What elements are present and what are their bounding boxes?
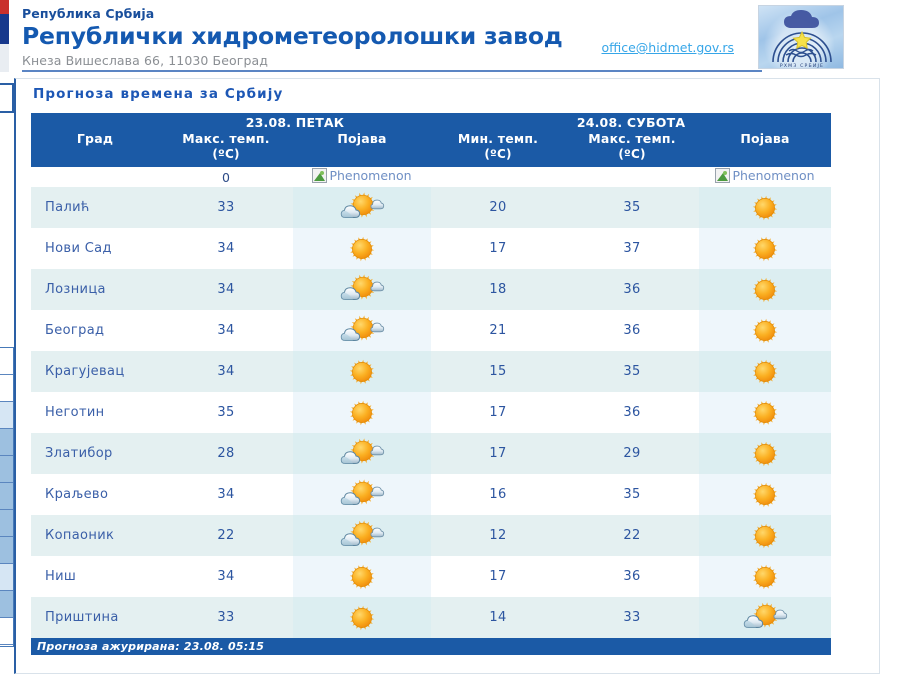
clear-sun-icon <box>293 556 431 597</box>
forecast-table-body: 0 Phenomenon Phenomenon <box>31 167 831 638</box>
cell-city: Нови Сад <box>31 228 159 269</box>
header-divider <box>22 70 762 72</box>
table-row: Копаоник22 1222 <box>31 515 831 556</box>
table-row: Златибор28 1729 <box>31 433 831 474</box>
clear-sun-icon <box>699 433 831 474</box>
cell-saturday-min: 17 <box>431 228 565 269</box>
content-panel: Прогноза времена за Србију 23.08. ПЕТАК … <box>14 78 880 674</box>
cell-saturday-phenomenon <box>699 556 831 597</box>
legend-city-cell <box>31 167 159 187</box>
cell-saturday-max: 33 <box>565 597 699 638</box>
legend-saturday-phenomenon-cell: Phenomenon <box>699 167 831 187</box>
cell-saturday-min: 17 <box>431 433 565 474</box>
cell-friday-max: 33 <box>159 597 293 638</box>
clear-sun-icon <box>699 310 831 351</box>
clear-sun-icon <box>699 351 831 392</box>
cell-saturday-phenomenon <box>699 474 831 515</box>
partly-cloudy-icon <box>699 597 831 638</box>
cell-saturday-phenomenon <box>699 310 831 351</box>
cell-saturday-max: 36 <box>565 269 699 310</box>
legend-saturday-max-cell <box>565 167 699 187</box>
svg-text:РХМЗ СРБИЈЕ: РХМЗ СРБИЈЕ <box>780 63 824 69</box>
cell-city: Крагујевац <box>31 351 159 392</box>
table-row: Палић33 2035 <box>31 187 831 228</box>
partly-cloudy-icon <box>293 515 431 556</box>
clear-sun-icon <box>293 597 431 638</box>
cell-city: Краљево <box>31 474 159 515</box>
clear-sun-icon <box>699 187 831 228</box>
cell-friday-max: 34 <box>159 474 293 515</box>
cell-saturday-phenomenon <box>699 187 831 228</box>
cell-city: Неготин <box>31 392 159 433</box>
cell-friday-phenomenon <box>293 269 431 310</box>
cell-city: Палић <box>31 187 159 228</box>
broken-image-icon <box>312 168 327 183</box>
col-header-saturday-min: Мин. темп. (ºC) <box>431 131 565 167</box>
left-nav-item[interactable] <box>0 618 13 645</box>
col-header-saturday-max-unit: (ºC) <box>565 147 699 162</box>
legend-friday-phenomenon-cell: Phenomenon <box>293 167 431 187</box>
left-nav-item[interactable] <box>0 564 13 591</box>
col-header-friday-max: Макс. темп. (ºC) <box>159 131 293 167</box>
cell-city: Ниш <box>31 556 159 597</box>
cell-saturday-max: 22 <box>565 515 699 556</box>
cell-friday-max: 28 <box>159 433 293 474</box>
cell-saturday-phenomenon <box>699 351 831 392</box>
cell-saturday-min: 15 <box>431 351 565 392</box>
cell-city: Златибор <box>31 433 159 474</box>
cell-friday-phenomenon <box>293 597 431 638</box>
cell-friday-phenomenon <box>293 433 431 474</box>
institution-address: Кнеза Вишеслава 66, 11030 Београд <box>22 53 762 68</box>
cell-saturday-min: 18 <box>431 269 565 310</box>
page-title: Прогноза времена за Србију <box>16 79 879 102</box>
cell-friday-max: 22 <box>159 515 293 556</box>
cell-city: Приштина <box>31 597 159 638</box>
col-header-saturday-phenomenon: Појава <box>699 131 831 167</box>
table-row: Крагујевац34 1535 <box>31 351 831 392</box>
col-header-saturday-phenomenon-label: Појава <box>740 131 789 146</box>
clear-sun-icon <box>293 351 431 392</box>
broken-image-alt-text: Phenomenon <box>732 168 814 183</box>
cell-saturday-min: 14 <box>431 597 565 638</box>
table-row: Неготин35 1736 <box>31 392 831 433</box>
cell-saturday-max: 29 <box>565 433 699 474</box>
broken-image-icon <box>715 168 730 183</box>
cell-friday-phenomenon <box>293 515 431 556</box>
cell-saturday-min: 20 <box>431 187 565 228</box>
table-row: Приштина33 1433 <box>31 597 831 638</box>
cell-saturday-phenomenon <box>699 392 831 433</box>
cell-friday-max: 34 <box>159 228 293 269</box>
left-nav-item[interactable] <box>0 429 13 456</box>
legend-saturday-min-cell <box>431 167 565 187</box>
cell-friday-max: 34 <box>159 351 293 392</box>
forecast-updated-bar: Прогноза ажурирана: 23.08. 05:15 <box>31 638 831 655</box>
cell-city: Копаоник <box>31 515 159 556</box>
clear-sun-icon <box>699 228 831 269</box>
left-nav-item[interactable] <box>0 348 13 375</box>
email-link[interactable]: office@hidmet.gov.rs <box>601 40 734 55</box>
table-row: Лозница34 1836 <box>31 269 831 310</box>
left-nav-item[interactable] <box>0 483 13 510</box>
table-column-header-row: Град Макс. темп. (ºC) Појава Мин. темп. … <box>31 131 831 167</box>
clear-sun-icon <box>699 392 831 433</box>
cell-friday-phenomenon <box>293 187 431 228</box>
cell-friday-max: 34 <box>159 269 293 310</box>
cell-saturday-max: 36 <box>565 392 699 433</box>
serbian-flag-strip <box>0 0 13 72</box>
partly-cloudy-icon <box>293 433 431 474</box>
table-day-group-row: 23.08. ПЕТАК 24.08. СУБОТА <box>31 113 831 131</box>
legend-row: 0 Phenomenon Phenomenon <box>31 167 831 187</box>
cell-friday-phenomenon <box>293 556 431 597</box>
col-header-friday-max-label: Макс. темп. <box>182 131 269 146</box>
cell-saturday-max: 35 <box>565 474 699 515</box>
rhmz-logo-icon: РХМЗ СРБИЈЕ <box>758 5 844 69</box>
broken-image-placeholder: Phenomenon <box>312 168 411 183</box>
left-nav-fragment[interactable] <box>0 347 14 647</box>
cell-saturday-phenomenon <box>699 433 831 474</box>
clear-sun-icon <box>699 269 831 310</box>
cell-saturday-max: 37 <box>565 228 699 269</box>
forecast-table: 23.08. ПЕТАК 24.08. СУБОТА Град Макс. те… <box>31 113 831 638</box>
col-header-city-label: Град <box>77 131 113 146</box>
day-group-friday: 23.08. ПЕТАК <box>159 113 431 131</box>
cell-friday-phenomenon <box>293 351 431 392</box>
cell-friday-max: 34 <box>159 310 293 351</box>
cell-saturday-max: 36 <box>565 556 699 597</box>
cell-saturday-min: 12 <box>431 515 565 556</box>
left-nav-item[interactable] <box>0 402 13 429</box>
cell-saturday-max: 36 <box>565 310 699 351</box>
col-header-saturday-min-unit: (ºC) <box>431 147 565 162</box>
table-row: Ниш34 1736 <box>31 556 831 597</box>
left-nav-item[interactable] <box>0 591 13 618</box>
cell-friday-max: 34 <box>159 556 293 597</box>
cell-saturday-max: 35 <box>565 351 699 392</box>
cell-saturday-phenomenon <box>699 228 831 269</box>
cell-saturday-min: 21 <box>431 310 565 351</box>
left-nav-item[interactable] <box>0 510 13 537</box>
legend-friday-max-cell: 0 <box>159 167 293 187</box>
cell-saturday-min: 17 <box>431 556 565 597</box>
cell-friday-phenomenon <box>293 392 431 433</box>
partly-cloudy-icon <box>293 310 431 351</box>
left-panel-fragment-top <box>0 83 14 113</box>
site-header: Република Србија Републички хидрометеоро… <box>22 6 762 72</box>
clear-sun-icon <box>699 556 831 597</box>
cell-city: Београд <box>31 310 159 351</box>
left-nav-item[interactable] <box>0 537 13 564</box>
country-line: Република Србија <box>22 6 762 21</box>
cell-friday-phenomenon <box>293 228 431 269</box>
col-header-city: Град <box>31 131 159 167</box>
table-row: Краљево34 1635 <box>31 474 831 515</box>
table-row: Београд34 2136 <box>31 310 831 351</box>
partly-cloudy-icon <box>293 269 431 310</box>
partly-cloudy-icon <box>293 474 431 515</box>
cell-saturday-phenomenon <box>699 515 831 556</box>
clear-sun-icon <box>293 228 431 269</box>
cell-city: Лозница <box>31 269 159 310</box>
col-header-saturday-max: Макс. темп. (ºC) <box>565 131 699 167</box>
broken-image-alt-text: Phenomenon <box>329 168 411 183</box>
col-header-friday-phenomenon-label: Појава <box>337 131 386 146</box>
day-group-spacer <box>31 113 159 131</box>
cell-friday-phenomenon <box>293 474 431 515</box>
partly-cloudy-icon <box>293 187 431 228</box>
table-row: Нови Сад34 1737 <box>31 228 831 269</box>
col-header-saturday-min-label: Мин. темп. <box>458 131 538 146</box>
cell-saturday-phenomenon <box>699 597 831 638</box>
left-nav-item[interactable] <box>0 375 13 402</box>
broken-image-placeholder: Phenomenon <box>715 168 814 183</box>
cell-friday-max: 33 <box>159 187 293 228</box>
cell-saturday-max: 35 <box>565 187 699 228</box>
clear-sun-icon <box>699 515 831 556</box>
col-header-friday-phenomenon: Појава <box>293 131 431 167</box>
cell-saturday-min: 17 <box>431 392 565 433</box>
col-header-saturday-max-label: Макс. темп. <box>588 131 675 146</box>
cell-saturday-min: 16 <box>431 474 565 515</box>
clear-sun-icon <box>699 474 831 515</box>
left-nav-item[interactable] <box>0 456 13 483</box>
clear-sun-icon <box>293 392 431 433</box>
page-root: Република Србија Републички хидрометеоро… <box>0 0 900 679</box>
cell-saturday-phenomenon <box>699 269 831 310</box>
cell-friday-phenomenon <box>293 310 431 351</box>
col-header-friday-max-unit: (ºC) <box>159 147 293 162</box>
cell-friday-max: 35 <box>159 392 293 433</box>
day-group-saturday: 24.08. СУБОТА <box>431 113 831 131</box>
